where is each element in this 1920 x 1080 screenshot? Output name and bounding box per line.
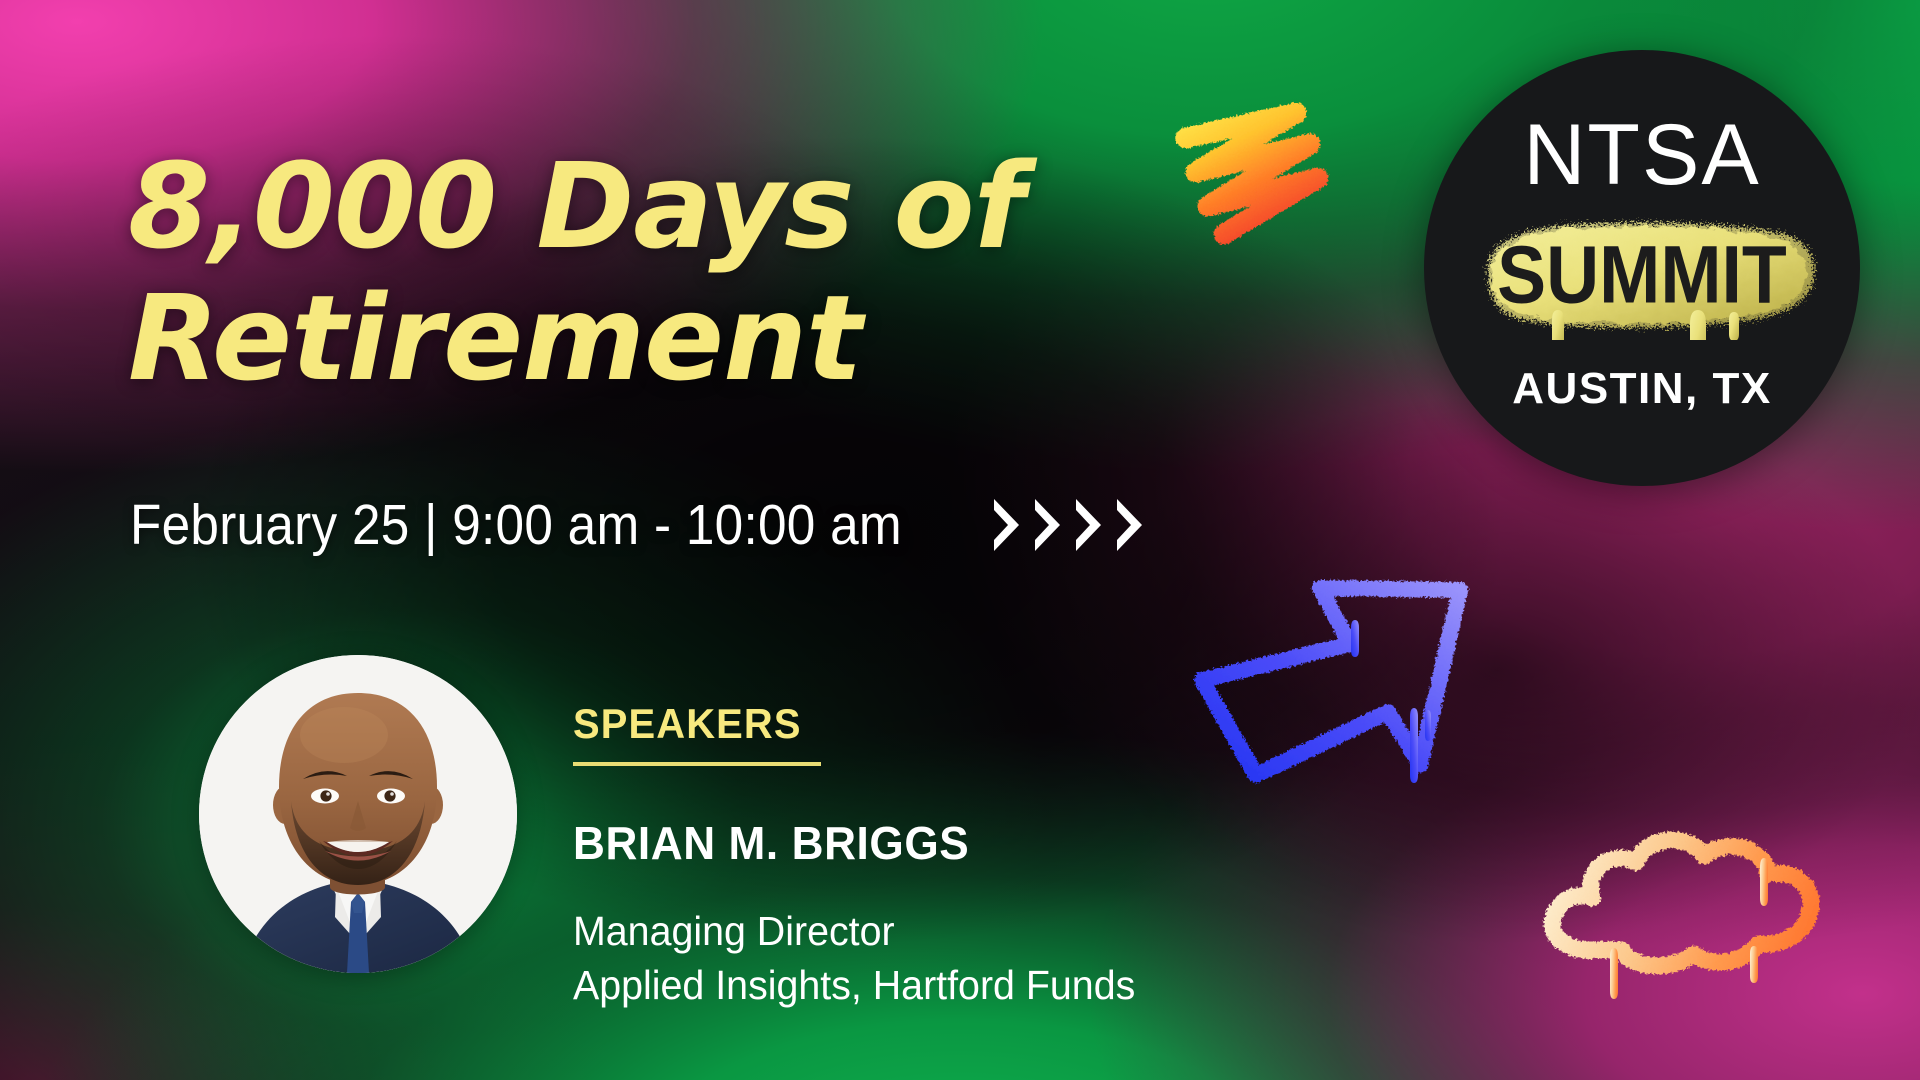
speakers-heading: SPEAKERS (573, 700, 1129, 748)
logo-spray-blob: SUMMIT (1462, 210, 1822, 340)
chevron-right-icon (1113, 496, 1147, 554)
event-promo-banner: 8,000 Days of Retirement February 25 | 9… (0, 0, 1920, 1080)
spray-arrow-shape (1192, 560, 1492, 810)
spray-arrow-icon (1192, 560, 1492, 810)
spray-cloud-icon (1518, 818, 1838, 1018)
spray-scribble-icon (1168, 86, 1348, 256)
speaker-title: Managing Director Applied Insights, Hart… (573, 904, 1135, 1012)
chevron-right-icon (1072, 496, 1106, 554)
spray-scribble-shape (1168, 86, 1348, 256)
speakers-heading-rule (573, 762, 821, 766)
ntsa-summit-logo: NTSA (1424, 50, 1860, 486)
speakers-section: SPEAKERS BRIAN M. BRIGGS Managing Direct… (573, 700, 1159, 1012)
chevron-right-icon (990, 496, 1024, 554)
chevron-right-icon-group (990, 496, 1147, 554)
speaker-title-line-1: Managing Director (573, 904, 1135, 958)
speaker-title-line-2: Applied Insights, Hartford Funds (573, 958, 1135, 1012)
headline-line-2: Retirement (128, 272, 1128, 404)
session-datetime: February 25 | 9:00 am - 10:00 am (130, 492, 902, 558)
paint-drip-group (1610, 858, 1768, 999)
chevron-right-icon (1031, 496, 1065, 554)
headline-line-1: 8,000 Days of (128, 140, 1128, 272)
page-title: 8,000 Days of Retirement (128, 140, 1128, 404)
session-datetime-row: February 25 | 9:00 am - 10:00 am (130, 492, 1147, 558)
spray-cloud-shape (1518, 818, 1838, 1018)
speaker-avatar (199, 655, 517, 973)
logo-city: AUSTIN, TX (1512, 364, 1771, 414)
speaker-name: BRIAN M. BRIGGS (573, 816, 1135, 870)
speaker-photo (199, 655, 517, 973)
logo-org-name: NTSA (1523, 112, 1760, 198)
logo-event-name: SUMMIT (1497, 234, 1787, 316)
